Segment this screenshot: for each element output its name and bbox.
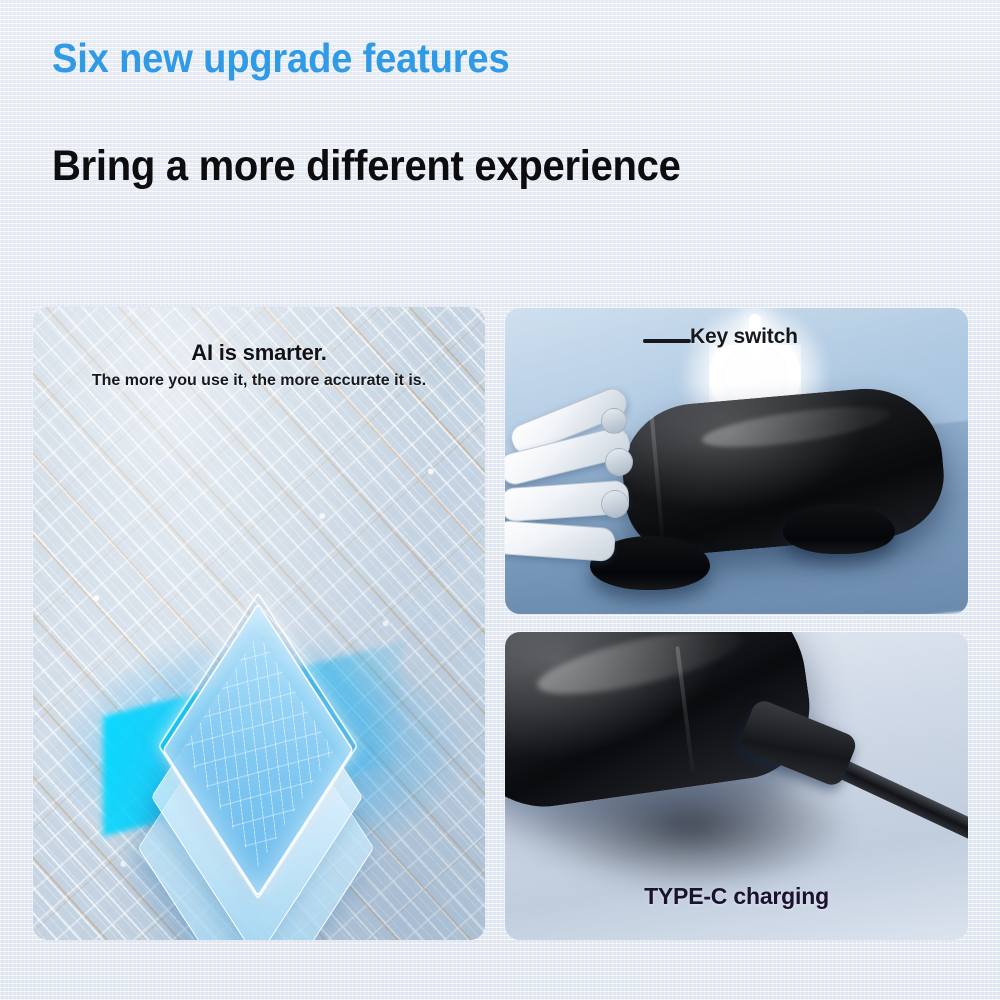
panel-key-switch[interactable]: Key switch	[505, 308, 968, 614]
robot-hand-knuckle-1	[601, 408, 627, 434]
page-headline: Six new upgrade features	[52, 38, 509, 79]
glass-chip-illustration	[128, 552, 418, 842]
ai-panel-subtitle: The more you use it, the more accurate i…	[33, 371, 485, 391]
panel-type-c-charging[interactable]: TYPE-C charging	[505, 632, 968, 940]
product-feature-infographic: Six new upgrade features Bring a more di…	[0, 0, 1000, 1000]
page-subheadline: Bring a more different experience	[52, 145, 681, 188]
robot-hand-knuckle-3	[601, 490, 629, 518]
panel-ai-smarter[interactable]: AI is smarter. The more you use it, the …	[33, 307, 485, 940]
key-switch-label: Key switch	[690, 325, 798, 349]
robot-hand-knuckle-2	[605, 448, 633, 476]
type-c-charging-label: TYPE-C charging	[505, 883, 968, 910]
ai-panel-title: AI is smarter.	[33, 340, 485, 366]
key-switch-leader-line	[643, 339, 691, 343]
massage-gun-head-rear	[783, 504, 895, 554]
